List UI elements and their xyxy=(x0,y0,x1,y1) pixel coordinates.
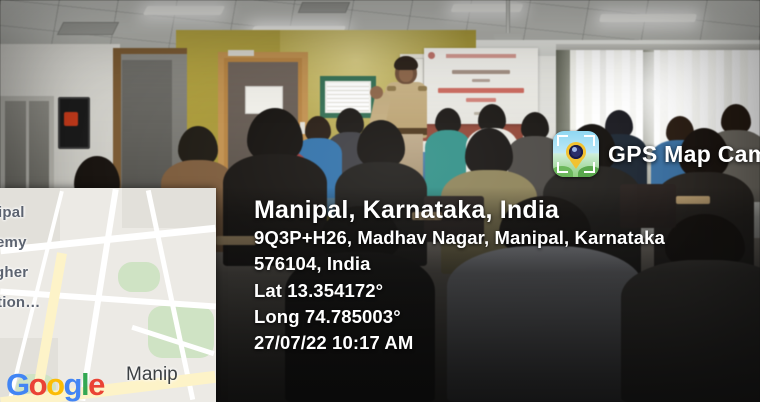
ceiling-light xyxy=(451,4,524,12)
google-logo-letter: e xyxy=(88,367,104,402)
ceiling-light xyxy=(599,14,697,22)
icon-frame-corner xyxy=(557,135,568,146)
map-label: tion… xyxy=(0,294,41,311)
ceiling-light xyxy=(143,6,225,15)
gps-map-camera-photo: GPS Map Camera ipal emy gher tion… Manip xyxy=(0,0,760,402)
gps-map-camera-watermark: GPS Map Camera xyxy=(553,131,760,177)
gps-info-block: Manipal, Karnataka, India 9Q3P+H26, Madh… xyxy=(254,196,760,356)
google-logo: Google xyxy=(6,369,104,400)
projector-mount xyxy=(494,33,522,40)
attendee-head xyxy=(357,120,405,168)
officer-epaulette xyxy=(418,86,427,91)
ceiling-vent xyxy=(57,22,119,35)
attendee-head xyxy=(465,128,513,176)
alarm-indicator-icon xyxy=(64,112,78,126)
map-label: gher xyxy=(0,264,28,281)
map-green-area xyxy=(118,262,160,292)
gps-latitude: Lat 13.354172° xyxy=(254,278,760,304)
google-logo-letter: o xyxy=(29,367,46,402)
map-place-label: Manip xyxy=(126,364,178,386)
icon-frame-corner xyxy=(584,135,595,146)
ceiling-vent xyxy=(298,2,350,13)
icon-frame-corner xyxy=(584,162,595,173)
gps-address-line-2: 576104, India xyxy=(254,251,760,277)
watermark-app-name: GPS Map Camera xyxy=(608,141,760,168)
google-logo-letter: l xyxy=(81,367,88,402)
gps-longitude: Long 74.785003° xyxy=(254,304,760,330)
map-label: ipal xyxy=(0,204,25,221)
slide-title-line xyxy=(438,88,524,93)
google-logo-letter: G xyxy=(6,367,29,402)
gps-camera-icon xyxy=(553,131,599,177)
gps-address-line-1: 9Q3P+H26, Madhav Nagar, Manipal, Karnata… xyxy=(254,225,760,251)
officer-hair xyxy=(394,56,418,70)
gps-location-title: Manipal, Karnataka, India xyxy=(254,196,760,225)
map-block xyxy=(122,188,216,228)
map-label: emy xyxy=(0,234,27,251)
slide-text-line xyxy=(466,98,496,102)
map-thumbnail[interactable]: ipal emy gher tion… Manip Google xyxy=(0,188,216,402)
icon-lens-glint xyxy=(572,147,577,152)
slide-text-line xyxy=(472,79,490,82)
icon-frame-corner xyxy=(557,162,568,173)
certificate-content xyxy=(327,83,369,111)
google-logo-letter: g xyxy=(64,367,81,402)
officer-hand xyxy=(370,86,383,99)
officer-epaulette xyxy=(387,86,396,91)
door-closer xyxy=(228,50,254,56)
projector-pole xyxy=(506,0,510,36)
slide-logo xyxy=(428,52,435,59)
slide-header-bar xyxy=(446,54,516,58)
gps-timestamp: 27/07/22 10:17 AM xyxy=(254,330,760,356)
google-logo-letter: o xyxy=(46,367,63,402)
slide-text-line xyxy=(452,70,510,74)
map-canvas: ipal emy gher tion… Manip Google xyxy=(0,188,216,402)
